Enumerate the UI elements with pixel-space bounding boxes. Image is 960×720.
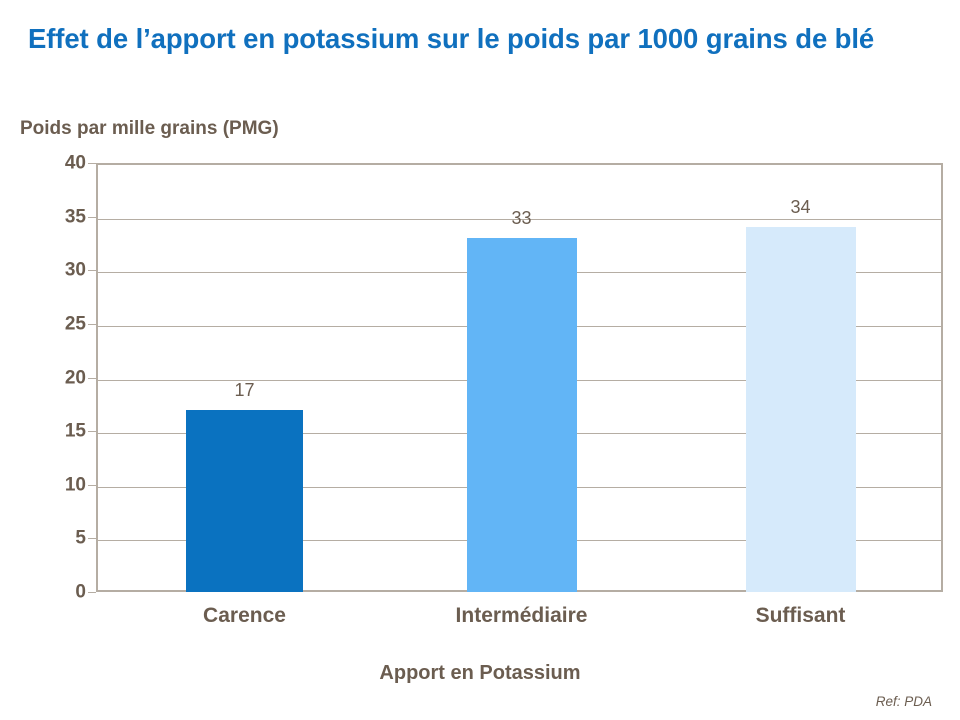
x-axis-category-label: Intermédiaire	[456, 604, 588, 628]
y-axis-tick-label: 35	[12, 207, 86, 226]
y-axis-tick-label: 10	[12, 475, 86, 494]
y-axis-tick-mark	[88, 324, 96, 325]
y-axis-tick-labels: 4035302520151050	[0, 163, 86, 592]
y-axis-tick-mark	[88, 592, 96, 593]
y-axis-tick-mark	[88, 378, 96, 379]
y-axis-tick-mark	[88, 270, 96, 271]
y-axis-tick-mark	[88, 538, 96, 539]
y-axis-tick-label: 5	[12, 529, 86, 548]
slide-canvas: Effet de l’apport en potassium sur le po…	[0, 0, 960, 720]
bar[interactable]	[186, 410, 303, 592]
x-axis-category-label: Carence	[203, 604, 286, 628]
x-axis-title: Apport en Potassium	[0, 662, 960, 685]
y-axis-title: Poids par mille grains (PMG)	[20, 118, 279, 140]
bar-value-label: 34	[790, 197, 810, 218]
bar[interactable]	[746, 227, 856, 592]
y-axis-tick-label: 0	[12, 583, 86, 602]
bar-value-label: 33	[511, 208, 531, 229]
page-title: Effet de l’apport en potassium sur le po…	[28, 22, 928, 56]
bar[interactable]	[467, 238, 577, 592]
y-axis-tick-label: 15	[12, 422, 86, 441]
bar-value-label: 17	[234, 380, 254, 401]
y-axis-tick-mark	[88, 163, 96, 164]
y-axis-tick-label: 25	[12, 314, 86, 333]
y-axis-tick-label: 40	[12, 154, 86, 173]
y-axis-tick-mark	[88, 431, 96, 432]
y-axis-tick-label: 20	[12, 368, 86, 387]
y-axis-tick-mark	[88, 217, 96, 218]
y-axis-tick-label: 30	[12, 261, 86, 280]
y-axis-tick-mark	[88, 485, 96, 486]
x-axis-category-label: Suffisant	[756, 604, 846, 628]
reference-note: Ref: PDA	[876, 694, 932, 709]
